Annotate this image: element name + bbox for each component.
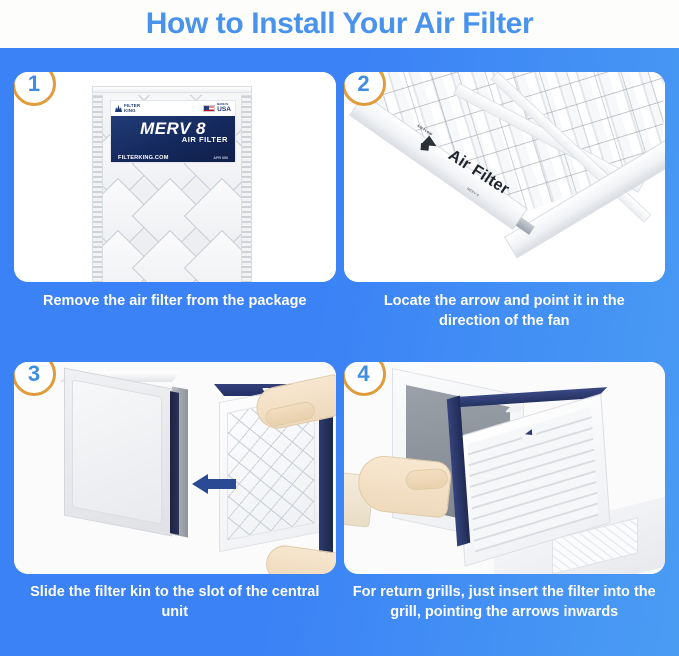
filter-product-photo: FILTER KING MADE IN USA xyxy=(14,72,336,282)
step-number-2: 2 xyxy=(357,73,369,95)
step-4-caption: For return grills, just insert the filte… xyxy=(344,583,666,622)
unit-filter-slot xyxy=(170,391,179,535)
step-1-caption: Remove the air filter from the package xyxy=(14,292,336,312)
page-title: How to Install Your Air Filter xyxy=(146,7,533,41)
step-number-4: 4 xyxy=(357,363,369,385)
filter-product-label: FILTER KING MADE IN USA xyxy=(110,100,236,163)
made-in-usa-text: MADE IN USA xyxy=(217,104,231,113)
filter-corner-photo: AIR FLOW Air Filter MERV 8 xyxy=(344,72,666,282)
label-top-row: FILTER KING MADE IN USA xyxy=(111,101,235,116)
country-label: USA xyxy=(217,107,231,114)
filter-side-frame xyxy=(319,403,333,556)
step-1-image-card: FILTER KING MADE IN USA xyxy=(14,72,336,282)
label-footer: FILTERKING.COM APR 650 xyxy=(118,155,228,161)
apr-rating: APR 650 xyxy=(213,156,228,160)
step-2-image-card: AIR FLOW Air Filter MERV 8 2 xyxy=(344,72,666,282)
steps-grid: FILTER KING MADE IN USA xyxy=(0,48,679,656)
label-main-panel: MERV 8 AIR FILTER FILTERKING.COM APR 650 xyxy=(111,116,235,163)
slide-filter-illustration xyxy=(14,362,336,574)
step-card-2: AIR FLOW Air Filter MERV 8 2 Locate the … xyxy=(344,72,666,356)
step-number-1: 1 xyxy=(28,73,40,95)
website-url: FILTERKING.COM xyxy=(118,155,169,161)
filter-king-logo: FILTER KING xyxy=(115,104,140,113)
step-3-image-card: 3 xyxy=(14,362,336,574)
step-card-3: 3 Slide the filter kin to the slot of th… xyxy=(14,362,336,646)
made-in-usa-mark: MADE IN USA xyxy=(203,104,231,113)
brand-line-2: KING xyxy=(124,108,136,113)
usa-flag-icon xyxy=(203,105,215,113)
crown-icon xyxy=(115,105,122,112)
step-card-4: 4 For return grills, just insert the fil… xyxy=(344,362,666,646)
brand-name: FILTER KING xyxy=(124,104,140,113)
return-grill-illustration xyxy=(344,362,666,574)
step-3-caption: Slide the filter kin to the slot of the … xyxy=(14,583,336,622)
unit-inner-panel xyxy=(72,379,162,524)
filter-left-rail xyxy=(92,95,103,282)
step-4-image-card: 4 xyxy=(344,362,666,574)
header-band: How to Install Your Air Filter xyxy=(0,0,679,48)
step-number-3: 3 xyxy=(28,363,40,385)
direction-arrow-icon xyxy=(192,474,236,494)
step-card-1: FILTER KING MADE IN USA xyxy=(14,72,336,356)
infographic-page: How to Install Your Air Filter xyxy=(0,0,679,656)
step-2-caption: Locate the arrow and point it in the dir… xyxy=(344,292,666,331)
filter-right-rail xyxy=(241,95,252,282)
